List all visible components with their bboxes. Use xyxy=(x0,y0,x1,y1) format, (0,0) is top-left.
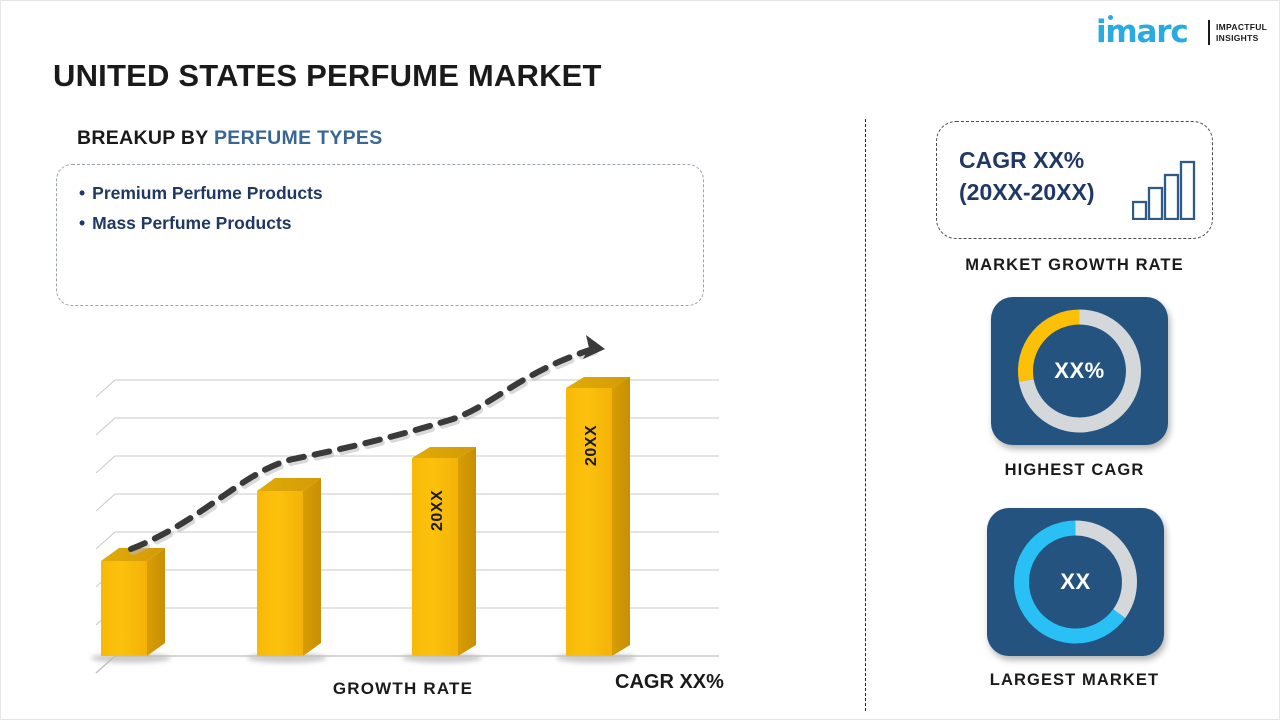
list-item: Premium Perfume Products xyxy=(79,178,703,208)
highest-cagr-value: XX% xyxy=(991,297,1168,445)
bar-shadows xyxy=(91,653,636,663)
list-item: Mass Perfume Products xyxy=(79,208,703,238)
highest-cagr-card: XX% xyxy=(991,297,1168,445)
breakup-subtitle-accent: PERFUME TYPES xyxy=(214,127,383,149)
panel-divider xyxy=(865,119,866,711)
ascending-bars-icon xyxy=(1132,160,1198,225)
chart-axis-label: GROWTH RATE xyxy=(53,679,753,699)
breakup-subtitle: BREAKUP BY PERFUME TYPES xyxy=(77,127,383,150)
highest-cagr-label: HIGHEST CAGR xyxy=(936,461,1213,480)
market-growth-rate-label: MARKET GROWTH RATE xyxy=(936,256,1213,275)
bar-4 xyxy=(566,377,630,656)
growth-rate-bar-chart: 20XX 20XX CAGR XX% GROWTH RATE xyxy=(53,331,753,711)
cagr-card-line1: CAGR XX% xyxy=(959,144,1095,176)
logo-tagline: IMPACTFUL INSIGHTS xyxy=(1216,22,1267,44)
infographic-page: imarc IMPACTFUL INSIGHTS UNITED STATES P… xyxy=(0,0,1280,720)
imarc-logo: imarc IMPACTFUL INSIGHTS xyxy=(1096,13,1266,55)
bar-3 xyxy=(412,447,476,656)
logo-tagline-line1: IMPACTFUL xyxy=(1216,22,1267,33)
logo-tagline-line2: INSIGHTS xyxy=(1216,33,1267,44)
page-title: UNITED STATES PERFUME MARKET xyxy=(53,58,602,94)
bar-3-year-label: 20XX xyxy=(429,490,447,531)
trend-line xyxy=(131,335,605,552)
cagr-card-line2: (20XX-20XX) xyxy=(959,176,1095,208)
breakup-list-box: Premium Perfume Products Mass Perfume Pr… xyxy=(56,164,704,306)
largest-market-card: XX xyxy=(987,508,1164,656)
bar-1 xyxy=(101,548,165,656)
bar-4-year-label: 20XX xyxy=(583,425,601,466)
market-growth-rate-card: CAGR XX% (20XX-20XX) xyxy=(936,121,1213,239)
bar-2 xyxy=(257,478,321,656)
chart-canvas xyxy=(53,331,753,711)
largest-market-value: XX xyxy=(987,508,1164,656)
breakup-subtitle-prefix: BREAKUP BY xyxy=(77,127,214,149)
logo-wordmark: imarc xyxy=(1096,17,1188,47)
logo-divider xyxy=(1208,20,1210,45)
breakup-list: Premium Perfume Products Mass Perfume Pr… xyxy=(79,178,703,238)
largest-market-label: LARGEST MARKET xyxy=(936,671,1213,690)
cagr-card-text: CAGR XX% (20XX-20XX) xyxy=(959,144,1095,208)
